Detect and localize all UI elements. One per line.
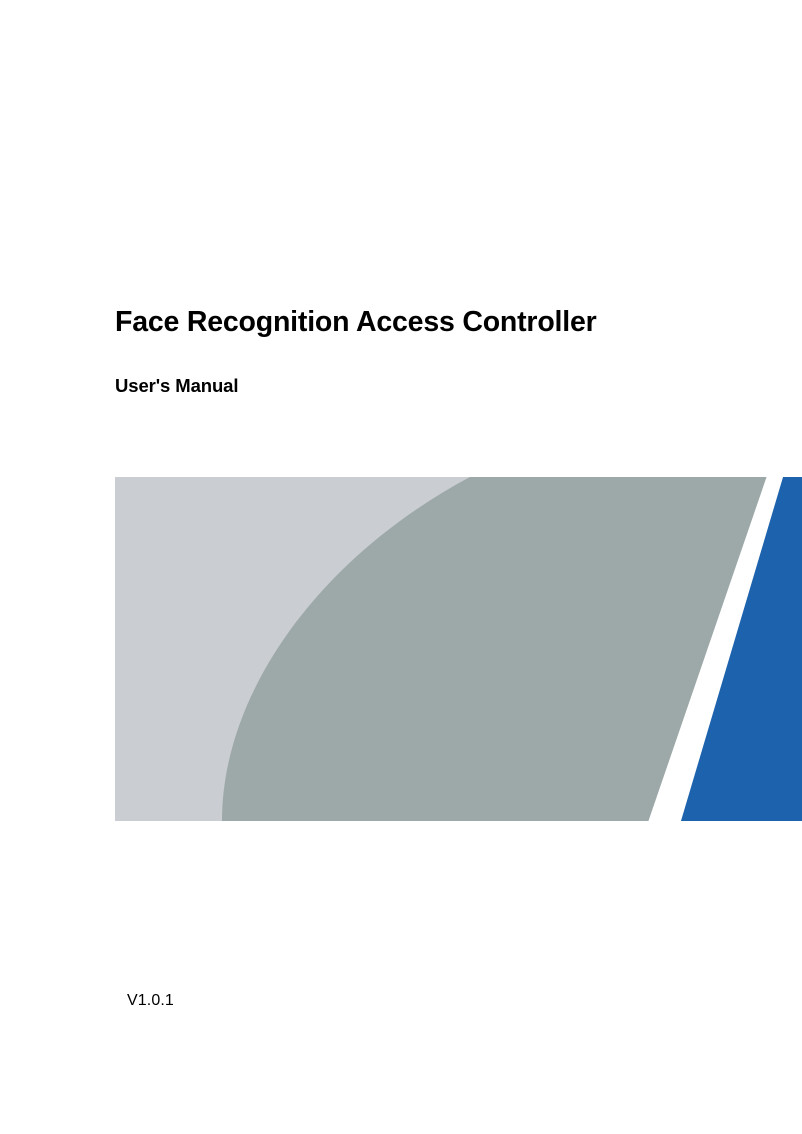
page-subtitle: User's Manual bbox=[115, 339, 735, 397]
document-page: Face Recognition Access Controller User'… bbox=[0, 0, 802, 1134]
cover-graphic-svg bbox=[115, 477, 802, 821]
title-block: Face Recognition Access Controller User'… bbox=[115, 305, 735, 397]
page-title: Face Recognition Access Controller bbox=[115, 305, 735, 339]
cover-graphic bbox=[115, 477, 802, 821]
version-label: V1.0.1 bbox=[127, 991, 174, 1012]
